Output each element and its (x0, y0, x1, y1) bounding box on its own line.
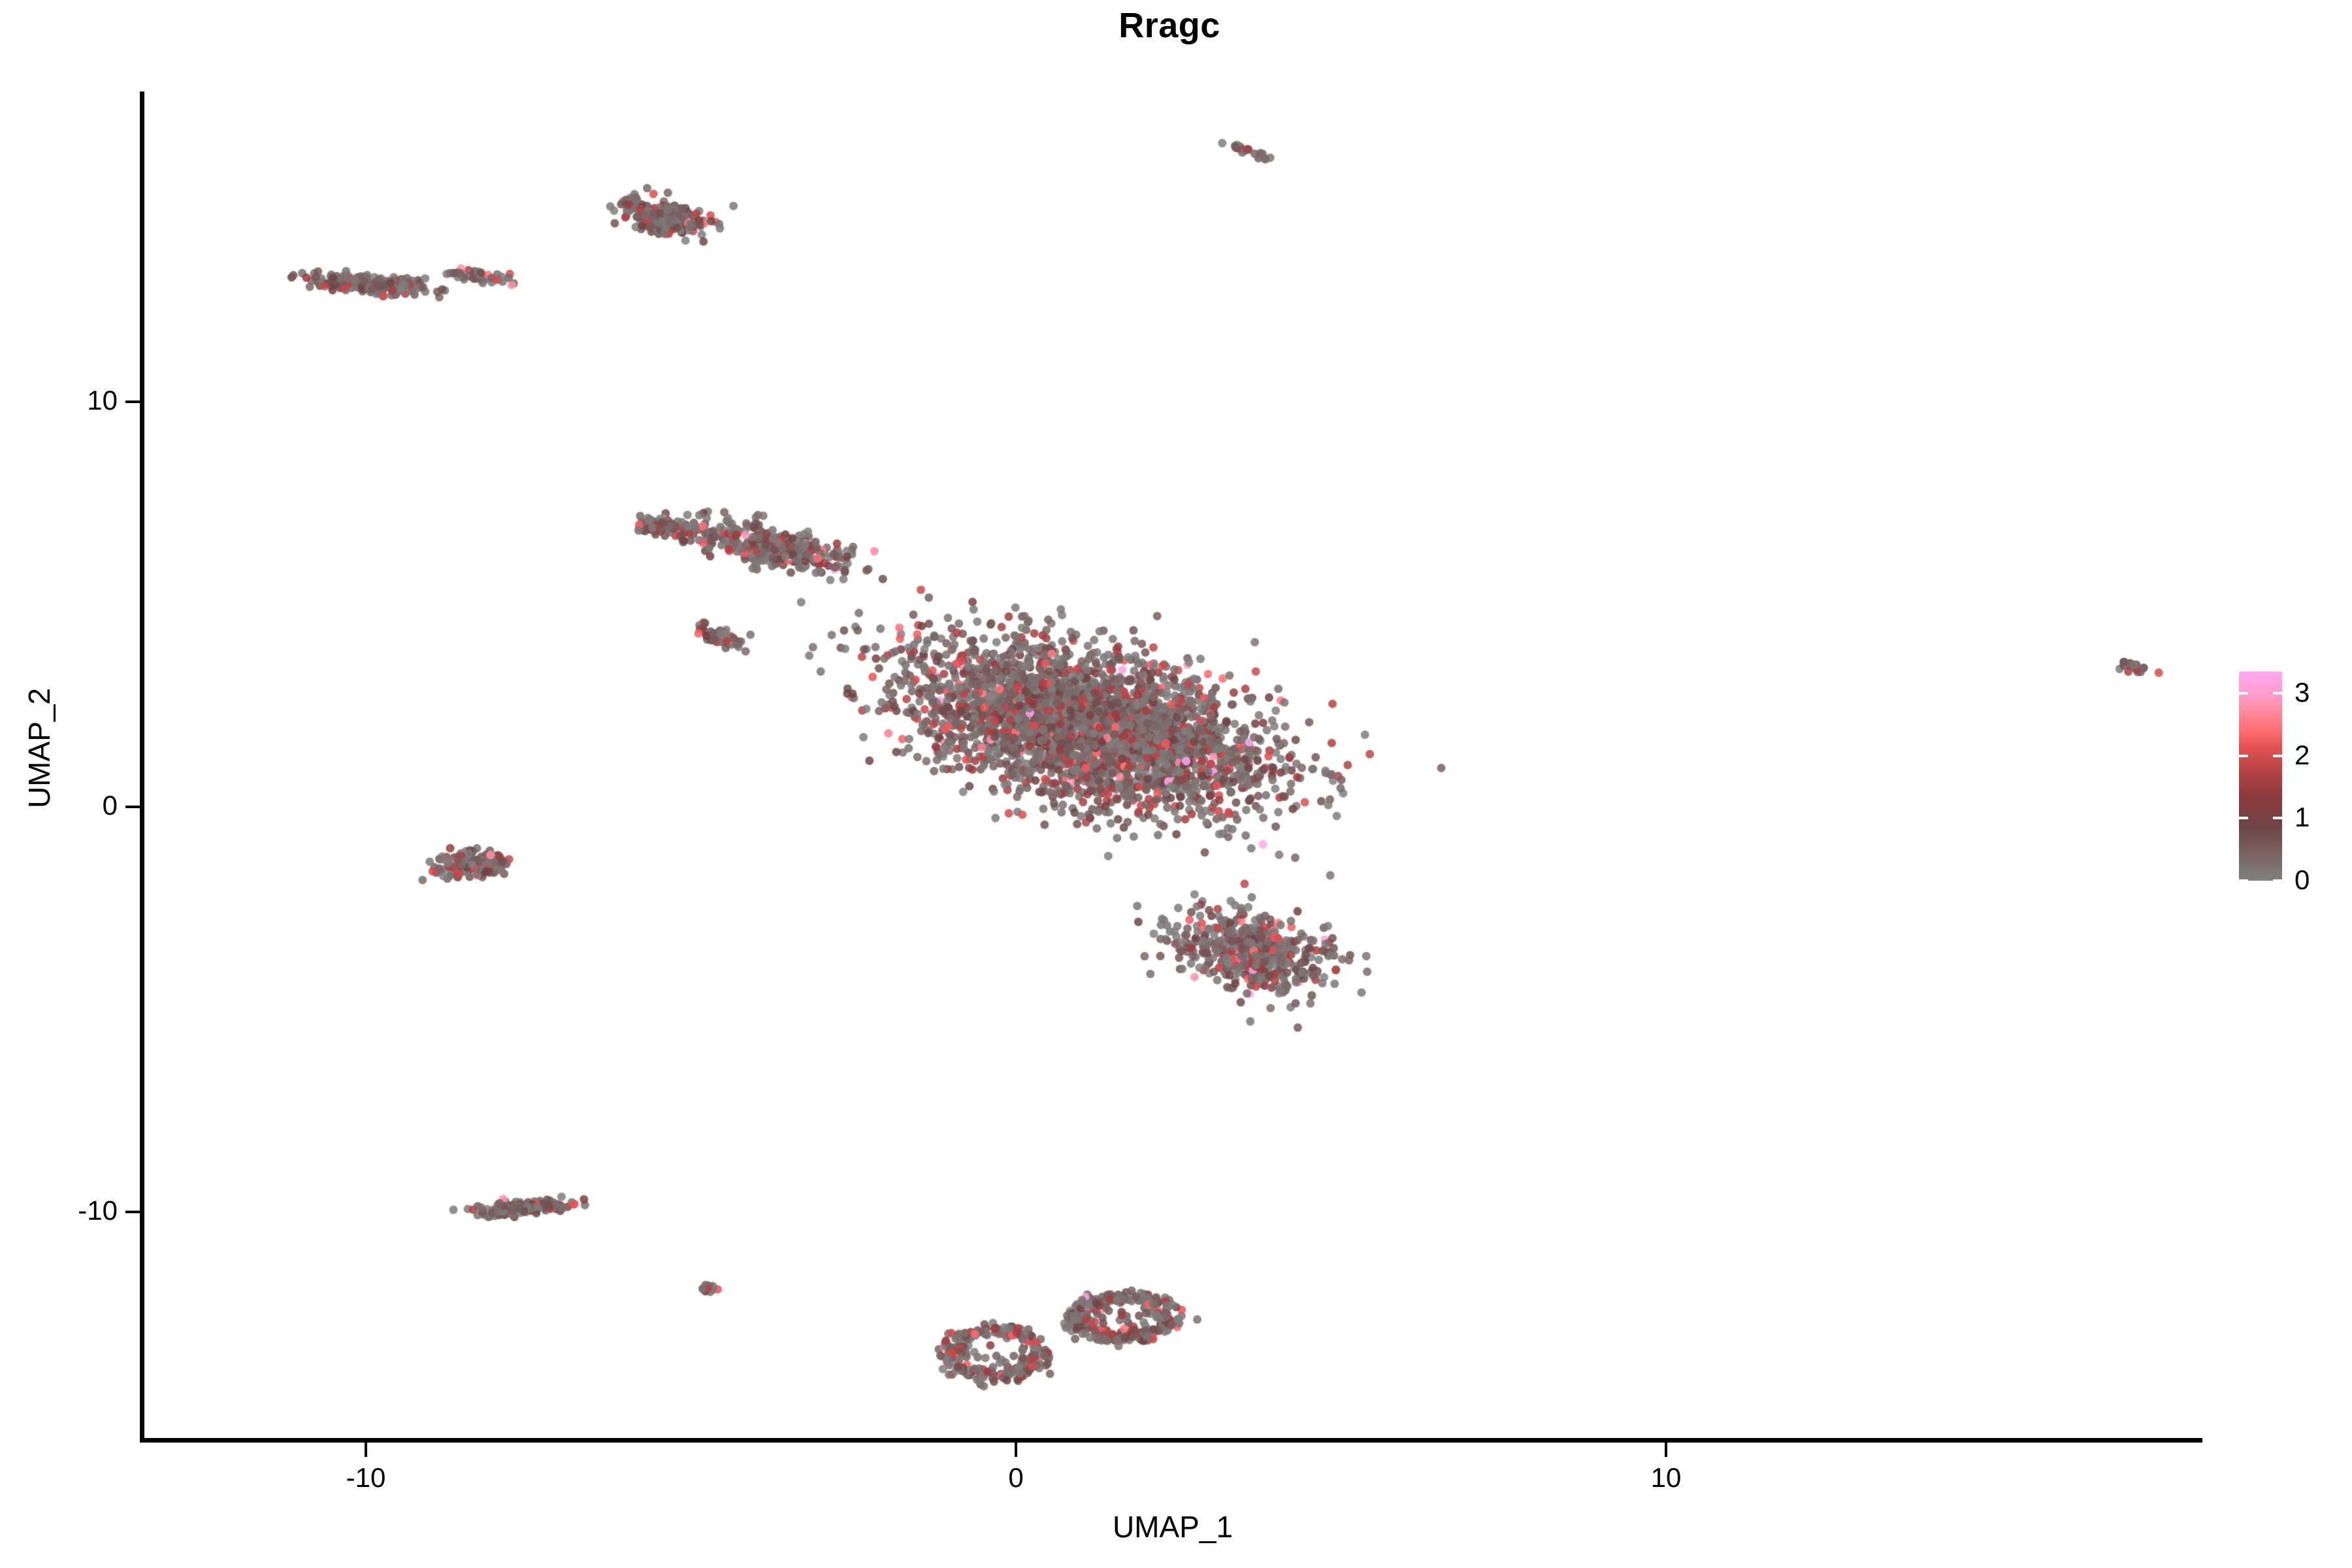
colorbar-tick-label: 1 (2295, 804, 2310, 831)
colorbar-tick-mark (2239, 755, 2248, 757)
colorbar-tick-label: 3 (2295, 679, 2310, 706)
colorbar-tick-mark (2273, 692, 2282, 694)
y-axis-label: UMAP_2 (22, 421, 57, 1075)
colorbar-tick-mark (2273, 755, 2282, 757)
y-tick-mark (125, 1211, 140, 1213)
colorbar-tick-label: 0 (2295, 866, 2310, 894)
y-tick-mark (125, 400, 140, 403)
umap-feature-plot: Rragc -10010 -10010 UMAP_1 UMAP_2 0123 (0, 0, 2352, 1568)
x-tick-label: 10 (1601, 1462, 1731, 1494)
x-tick-mark (1015, 1443, 1017, 1457)
colorbar-legend: 0123 (2234, 666, 2339, 895)
colorbar-tick-mark (2239, 817, 2248, 819)
colorbar-tick-mark (2273, 817, 2282, 819)
colorbar-tick-mark (2273, 879, 2282, 882)
x-tick-label: -10 (301, 1462, 431, 1494)
y-tick-label: -10 (13, 1195, 118, 1226)
x-tick-mark (365, 1443, 367, 1457)
x-axis-line (140, 1438, 2202, 1443)
colorbar-tick-mark (2239, 879, 2248, 882)
page-title: Rragc (0, 5, 2339, 46)
x-tick-label: 0 (951, 1462, 1081, 1494)
y-tick-label: 10 (13, 385, 118, 416)
colorbar-tick-label: 2 (2295, 742, 2310, 769)
scatter-points-layer (144, 91, 2202, 1441)
colorbar-gradient (2239, 672, 2282, 881)
x-axis-label: UMAP_1 (144, 1509, 2202, 1544)
colorbar-tick-mark (2239, 692, 2248, 694)
y-tick-mark (125, 806, 140, 808)
x-tick-mark (1665, 1443, 1667, 1457)
y-axis-line (140, 91, 144, 1443)
